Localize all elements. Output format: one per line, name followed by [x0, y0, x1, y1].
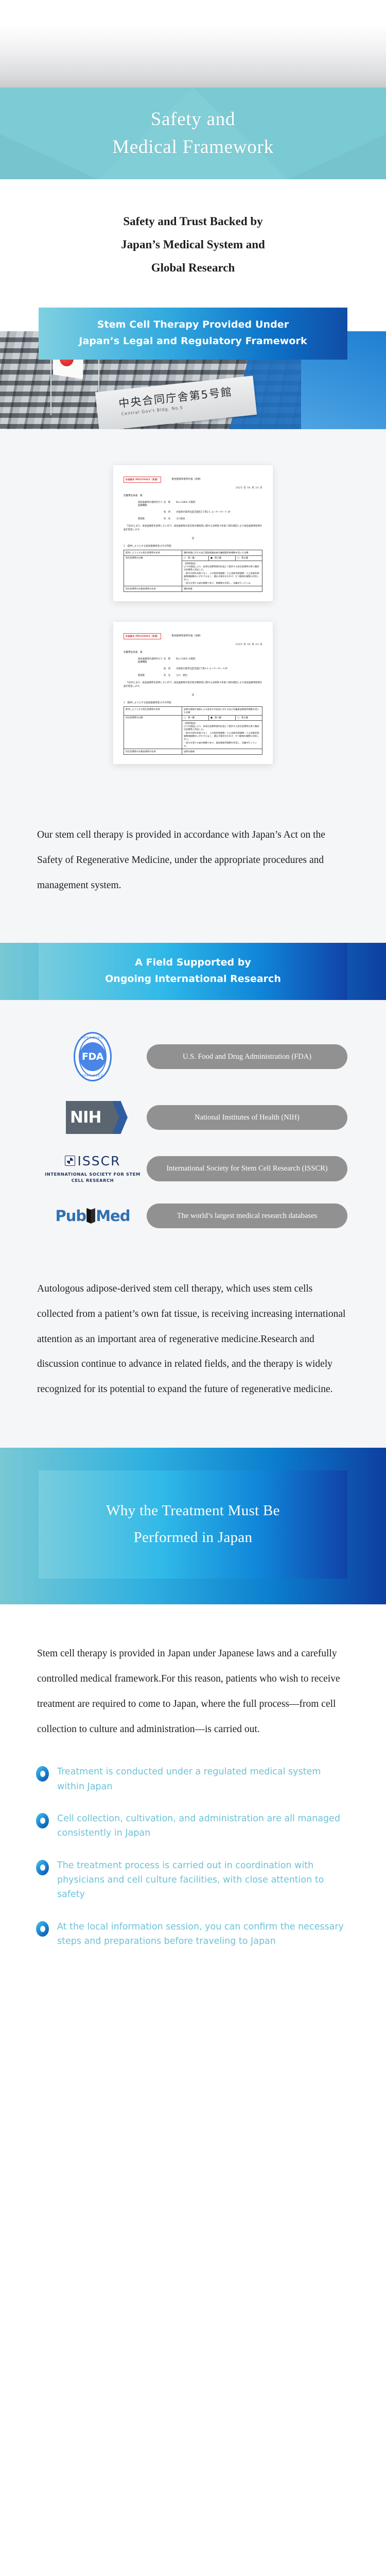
- doc-table: 提供しようとする再生医療等の名称 皮膚の萎縮や加齢による老化や光老化に対する自己…: [124, 706, 262, 755]
- hero-title-line2: Medical Framework: [112, 133, 274, 161]
- logo-row: Pub Med The world’s largest medical rese…: [39, 1204, 347, 1228]
- nih-chevron-icon: [112, 1101, 128, 1134]
- logo-cell: NIH: [39, 1101, 147, 1134]
- ribbon-line1: Stem Cell Therapy Provided Under: [44, 316, 342, 333]
- doc-manager-name-value: 小川 達也: [176, 674, 262, 677]
- doc-disease-value: 皮膚の萎縮: [182, 749, 262, 755]
- logo-row: ISSCR INTERNATIONAL SOCIETY FOR STEM CEL…: [39, 1154, 347, 1184]
- doc-class-opt2: ■ 第二種: [208, 555, 235, 561]
- doc-paragraph: 下記のとおり、再生医療等を提供したいので、再生医療等の安全性の確保等に関する法律…: [124, 682, 262, 689]
- doc-name-label: 名 称: [164, 657, 176, 664]
- doc-name-value: Blu CLINIC.大阪院: [176, 501, 262, 507]
- logo-cell: Pub Med: [39, 1207, 147, 1225]
- research-band-line1: A Field Supported by: [46, 954, 340, 971]
- doc-ki-mark: 記: [124, 693, 262, 697]
- isscr-label-pill: International Society for Stem Cell Rese…: [147, 1156, 347, 1181]
- doc-disease-value: 慢性疼痛: [182, 586, 262, 591]
- ring-bullet-icon: [36, 1766, 49, 1782]
- japan-band-line1: Why the Treatment Must Be: [49, 1497, 337, 1524]
- document-card: 計画番号 PB5250042（受理） 再生医療等提供計画（治療） 2025 年 …: [113, 465, 273, 601]
- doc-date: 2025 年 04 月 24 日: [124, 643, 262, 646]
- doc-name-label: 名 称: [164, 501, 176, 507]
- subtitle-line2: Japan’s Medical System and: [49, 233, 337, 257]
- pubmed-book-icon: [86, 1208, 95, 1224]
- doc-tname-label: 提供しようとする再生医療等の名称: [124, 706, 182, 715]
- research-logos-section: APPROVED FDA APPROVED U.S. Food and Drug…: [0, 1000, 386, 1448]
- doc-manager-name-label: 氏 名: [164, 674, 176, 677]
- pubmed-logo-icon: Pub Med: [56, 1207, 130, 1225]
- doc-manager-label: 管理者: [124, 517, 164, 520]
- list-item: The treatment process is carried out in …: [36, 1858, 350, 1902]
- isscr-mark-text: ISSCR: [78, 1154, 121, 1168]
- doc-plan-number: 計画番号 PB5250043（受理）: [124, 633, 161, 639]
- legal-framework-ribbon: Stem Cell Therapy Provided Under Japan’s…: [39, 308, 347, 360]
- isscr-emblem-icon: [65, 1156, 75, 1166]
- doc-institution-label: 再生医療等の提供を行う医療機関: [124, 501, 164, 507]
- japan-bullet-list: Treatment is conducted under a regulated…: [0, 1747, 386, 2023]
- ring-bullet-icon: [36, 1813, 49, 1828]
- ring-bullet-icon: [36, 1921, 49, 1937]
- doc-name-value: Blu CLINIC.大阪院: [176, 657, 262, 664]
- logo-row: APPROVED FDA APPROVED U.S. Food and Drug…: [39, 1032, 347, 1081]
- doc-disease-label: 再生医療等の対象疾患等の名称: [124, 586, 182, 591]
- top-gradient-strip: [0, 0, 386, 88]
- nih-label-pill: National Institutes of Health (NIH): [147, 1105, 347, 1130]
- doc-section1-heading: 1 提供しようとする再生医療等及びその内容: [124, 545, 262, 548]
- bullet-text: Treatment is conducted under a regulated…: [57, 1765, 350, 1794]
- research-band: A Field Supported by Ongoing Internation…: [0, 943, 386, 1000]
- doc-disease-label: 再生医療等の対象疾患等の名称: [124, 749, 182, 755]
- logo-cell: ISSCR INTERNATIONAL SOCIETY FOR STEM CEL…: [39, 1154, 147, 1184]
- doc-manager-name-label: 氏 名: [164, 517, 176, 520]
- doc-address-value: 大阪府大阪市北区芝田町2丁目2-1 ユーケーゲート 4F: [176, 511, 262, 514]
- pubmed-mark-a: Pub: [56, 1207, 86, 1225]
- doc-title: 再生医療等提供計画（治療）: [171, 633, 202, 637]
- nih-logo-icon: NIH: [66, 1101, 119, 1134]
- japan-paragraph: Stem cell therapy is provided in Japan u…: [0, 1604, 386, 1747]
- doc-institution-label: 再生医療等の提供を行う医療機関: [124, 657, 164, 664]
- document-list: 計画番号 PB5250042（受理） 再生医療等提供計画（治療） 2025 年 …: [0, 465, 386, 800]
- doc-class-reason: 【判断理由】 以下の理由により、本再生医療等提供計画にて提供する再生医療等を第二…: [182, 561, 262, 586]
- doc-class-opt3: □ 第三種: [235, 715, 262, 720]
- doc-date: 2025 年 04 月 24 日: [124, 486, 262, 489]
- nih-mark-text: NIH: [66, 1108, 101, 1127]
- pubmed-mark-b: Med: [96, 1207, 130, 1225]
- doc-address-label: 住 所: [164, 667, 176, 670]
- fda-logo-icon: APPROVED FDA APPROVED: [74, 1032, 112, 1081]
- doc-class-label: 再生医療等の分類: [124, 555, 182, 586]
- subtitle-line1: Safety and Trust Backed by: [49, 210, 337, 233]
- doc-address-label: 住 所: [164, 511, 176, 514]
- doc-class-label: 再生医療等の分類: [124, 715, 182, 749]
- doc-section1-heading: 1 提供しようとする再生医療等及びその内容: [124, 701, 262, 704]
- legal-paragraph: Our stem cell therapy is provided in acc…: [0, 800, 386, 942]
- logo-row: NIH National Institutes of Health (NIH): [39, 1101, 347, 1134]
- fda-inner-ring: [79, 1037, 107, 1076]
- doc-addressee: 近畿厚生局長 殿: [124, 494, 262, 497]
- doc-tname-value: 皮膚の萎縮や加齢による老化や光老化に対する自己培養真皮線維芽細胞を用いた治療: [182, 706, 262, 715]
- fda-badge-top: APPROVED: [75, 1036, 110, 1040]
- document-card: 計画番号 PB5250043（受理） 再生医療等提供計画（治療） 2025 年 …: [113, 622, 273, 764]
- doc-paragraph: 下記のとおり、再生医療等を提供したいので、再生医療等の安全性の確保等に関する法律…: [124, 525, 262, 532]
- fda-label-pill: U.S. Food and Drug Administration (FDA): [147, 1044, 347, 1069]
- pubmed-label-pill: The world’s largest medical research dat…: [147, 1204, 347, 1228]
- doc-class-opt2: ■ 第二種: [208, 715, 235, 720]
- bullet-text: The treatment process is carried out in …: [57, 1858, 350, 1902]
- doc-tname-label: 提供しようとする再生医療等の名称: [124, 550, 182, 555]
- list-item: At the local information session, you ca…: [36, 1920, 350, 1949]
- fda-badge-bottom: APPROVED: [75, 1074, 110, 1078]
- ring-bullet-icon: [36, 1860, 49, 1875]
- doc-class-reason: 【判断理由】 以下の理由により、本再生医療等提供計画にて提供する再生医療等を第二…: [182, 720, 262, 749]
- isscr-subtitle: INTERNATIONAL SOCIETY FOR STEM CELL RESE…: [39, 1171, 147, 1184]
- legal-framework-section: Stem Cell Therapy Provided Under Japan’s…: [0, 308, 386, 429]
- doc-class-opt3: □ 第三種: [235, 555, 262, 561]
- research-band-inner: A Field Supported by Ongoing Internation…: [39, 943, 347, 1000]
- doc-manager-name-value: 小川達也: [176, 517, 262, 520]
- japan-band-line2: Performed in Japan: [49, 1524, 337, 1551]
- ribbon-line2: Japan’s Legal and Regulatory Framework: [44, 333, 342, 350]
- japan-band-inner: Why the Treatment Must Be Performed in J…: [39, 1470, 347, 1579]
- doc-title: 再生医療等提供計画（治療）: [171, 477, 202, 481]
- doc-addressee: 近畿厚生局長 殿: [124, 651, 262, 654]
- documents-section: 計画番号 PB5250042（受理） 再生医療等提供計画（治療） 2025 年 …: [0, 429, 386, 943]
- doc-tname-value: 慢性疼痛に対する自己脂肪組織由来培養間葉系幹細胞を用いた治療: [182, 550, 262, 555]
- research-band-line2: Ongoing International Research: [46, 971, 340, 988]
- doc-class-opt1: □ 第一種: [182, 715, 208, 720]
- doc-address-value: 大阪府大阪市北区芝田2丁目2-1 ユーケーゲート4F: [176, 667, 262, 670]
- research-paragraph: Autologous adipose-derived stem cell the…: [0, 1248, 386, 1443]
- doc-class-opt1: □ 第一種: [182, 555, 208, 561]
- hero-banner: Safety and Medical Framework: [0, 88, 386, 179]
- doc-ki-mark: 記: [124, 537, 262, 540]
- bullet-text: At the local information session, you ca…: [57, 1920, 350, 1949]
- bullet-text: Cell collection, cultivation, and admini…: [57, 1811, 350, 1841]
- japan-band: Why the Treatment Must Be Performed in J…: [0, 1448, 386, 1604]
- hero-title-line1: Safety and: [151, 106, 236, 133]
- doc-plan-number: 計画番号 PB5250042（受理）: [124, 477, 161, 483]
- doc-table: 提供しようとする再生医療等の名称 慢性疼痛に対する自己脂肪組織由来培養間葉系幹細…: [124, 550, 262, 592]
- isscr-logo-icon: ISSCR INTERNATIONAL SOCIETY FOR STEM CEL…: [39, 1154, 147, 1184]
- subtitle-line3: Global Research: [49, 257, 337, 280]
- list-item: Treatment is conducted under a regulated…: [36, 1765, 350, 1794]
- doc-manager-label: 管理者: [124, 674, 164, 677]
- logo-cell: APPROVED FDA APPROVED: [39, 1032, 147, 1081]
- subtitle-block: Safety and Trust Backed by Japan’s Medic…: [0, 179, 386, 308]
- list-item: Cell collection, cultivation, and admini…: [36, 1811, 350, 1841]
